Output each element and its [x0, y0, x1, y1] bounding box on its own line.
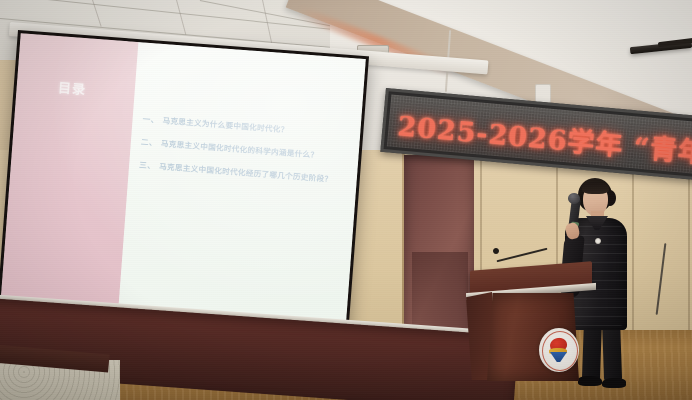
screen-glare — [0, 33, 366, 340]
projected-slide: 目录 一、 马克思主义为什么要中国化时代化？ 二、 马克思主义中国化时代化的科学… — [0, 33, 366, 340]
gooseneck-microphone-head-icon — [493, 248, 499, 254]
speaker-hair-fringe — [582, 182, 609, 194]
projection-screen: 目录 一、 马克思主义为什么要中国化时代化？ 二、 马克思主义中国化时代化的科学… — [0, 30, 369, 344]
lapel-pin-icon — [595, 238, 601, 244]
speaker-shoe — [602, 378, 626, 388]
wall-outlet — [535, 84, 551, 103]
lecture-hall-photo: 2025-2026学年 “青年马克思主 目录 一、 马克思主义为什么要中国化时代… — [0, 0, 692, 400]
speaker-shoe — [578, 376, 602, 386]
